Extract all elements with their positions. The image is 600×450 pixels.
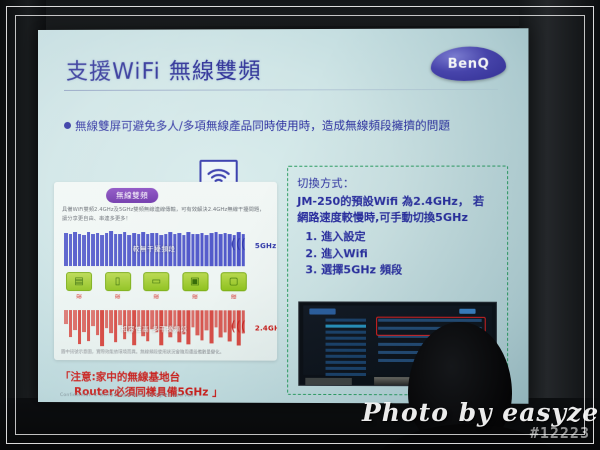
camera-icon: ▣ <box>182 272 208 291</box>
device-smartphone: ▯ ≋ <box>105 272 131 301</box>
room-wall-right <box>519 0 600 450</box>
tv-menu-item <box>326 343 366 346</box>
warning-note-line1: 「注意:家中的無線基地台 <box>60 371 180 383</box>
tv-device-below <box>305 378 352 385</box>
signal-wave-icon: ≋ <box>182 293 208 301</box>
instruction-step-1: 1. 進入設定 <box>305 229 498 246</box>
tv-menu-item-selected <box>326 325 366 328</box>
title-divider <box>64 89 498 91</box>
slide-footer: Confidential. © BenQ Corporation, all ri… <box>60 393 195 398</box>
instruction-steps: 1. 進入設定 2. 進入Wifi 3. 選擇5GHz 頻段 <box>297 229 498 279</box>
band-5ghz-label: 較無干擾頻段 <box>64 243 245 253</box>
benq-logo: BenQ <box>431 46 506 80</box>
instruction-step-3: 3. 選擇5GHz 頻段 <box>305 262 498 279</box>
tv-menu-item <box>326 355 366 358</box>
tv-status-icons <box>459 309 475 314</box>
tv-settings-menu <box>326 319 366 363</box>
photograph: 支援WiFi 無線雙頻 BenQ 無線雙屏可避免多人/多項無線產品同時使用時，造… <box>0 0 600 450</box>
signal-wave-icon: ≋ <box>105 293 131 301</box>
tv-menu-item <box>326 337 366 340</box>
device-camera: ▣ ≋ <box>182 272 208 301</box>
device-laptop: ▭ ≋ <box>143 272 169 301</box>
signal-wave-icon: ≋ <box>221 293 247 301</box>
device-row: ▤ ≋ ▯ ≋ ▭ ≋ ▣ ≋ ▢ ≋ <box>66 272 247 301</box>
band-5ghz-tag: 5GHz <box>255 242 277 250</box>
instructions-line1: JM-250的預設Wifi 為2.4GHz， 若 <box>297 194 498 210</box>
bullet-text: 無線雙屏可避免多人/多項無線產品同時使用時，造成無線頻段擁擠的問題 <box>75 118 450 133</box>
dual-band-infographic: 無線雙頻 具備WiFi雙頻2.4GHz及5GHz雙頻無線連線傳輸，可有效解決2.… <box>54 182 277 361</box>
router-icon: ▤ <box>66 272 92 291</box>
device-router: ▤ ≋ <box>66 272 92 301</box>
tv-menu-item <box>326 331 366 334</box>
tv-titlebar <box>309 308 335 314</box>
signal-wave-icon: ≋ <box>66 293 92 301</box>
band-24ghz-tag: 2.4GHz <box>255 324 277 332</box>
infographic-description: 具備WiFi雙頻2.4GHz及5GHz雙頻無線連線傳輸，可有效解決2.4GHz無… <box>62 206 269 224</box>
band-24ghz-label: 相容性高 多干擾頻段 <box>64 323 245 333</box>
benq-wordmark: BenQ <box>431 46 506 80</box>
bullet-paragraph: 無線雙屏可避免多人/多項無線產品同時使用時，造成無線頻段擁擠的問題 <box>64 117 498 136</box>
bullet-dot-icon <box>64 122 71 129</box>
smartphone-icon: ▯ <box>105 272 131 291</box>
band-5ghz: 較無干擾頻段 <box>64 230 245 266</box>
instructions-line2: 網路速度較慢時,可手動切換5GHz <box>297 210 498 226</box>
signal-wave-icon: ≋ <box>143 293 169 301</box>
tv-menu-item <box>326 349 366 352</box>
dual-band-pill: 無線雙頻 <box>106 188 158 203</box>
tv-menu-item <box>326 367 366 370</box>
photo-watermark-id: #12223 <box>530 424 590 442</box>
photo-watermark: Photo by easyzen <box>362 398 600 427</box>
tv-menu-item <box>326 361 366 364</box>
instruction-step-2: 2. 進入Wifi <box>305 246 498 263</box>
band-24ghz: 相容性高 多干擾頻段 <box>64 310 245 346</box>
tv-menu-item <box>326 373 366 376</box>
laptop-icon: ▭ <box>143 272 169 291</box>
slide-title: 支援WiFi 無線雙頻 <box>66 53 261 86</box>
television-icon: ▢ <box>221 272 247 291</box>
device-television: ▢ ≋ <box>221 272 247 301</box>
tv-menu-item <box>326 319 366 322</box>
instructions-heading: 切換方式： <box>297 175 498 191</box>
infographic-footnote: 圖中訊號示意圖，實際效能依環境而異。無線頻段使用狀況會隨周遭設備數量變化。 <box>61 350 270 357</box>
room-ceiling <box>0 0 600 26</box>
